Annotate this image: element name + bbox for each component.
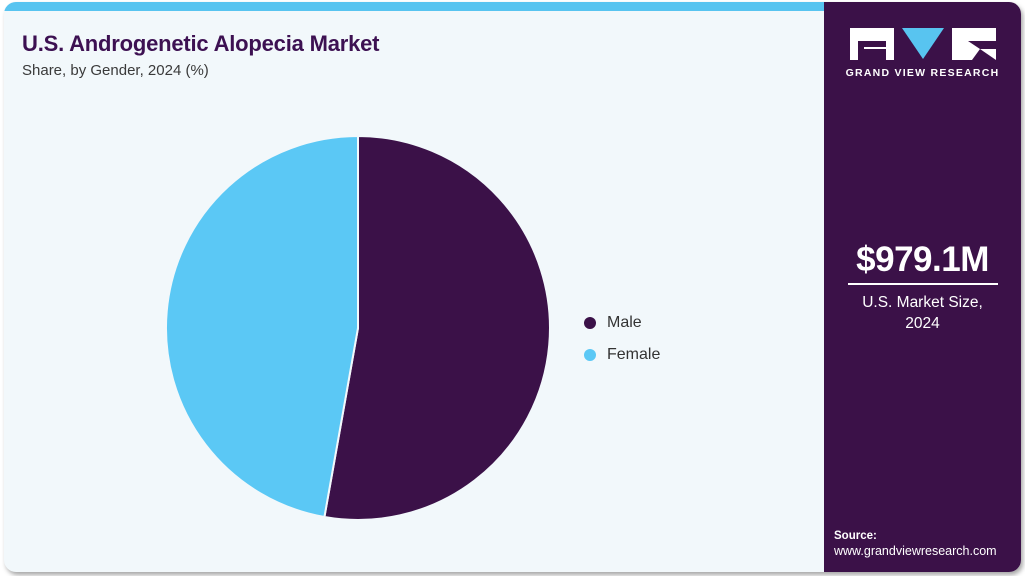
top-accent-bar	[4, 2, 824, 11]
chart-area: U.S. Androgenetic Alopecia Market Share,…	[4, 11, 824, 572]
legend-item-female[interactable]: Female	[584, 339, 660, 371]
legend-swatch-female	[584, 349, 596, 361]
pie-chart	[165, 135, 551, 521]
page-subtitle: Share, by Gender, 2024 (%)	[22, 62, 209, 79]
pie-slice-female[interactable]	[166, 136, 358, 517]
chart-card: U.S. Androgenetic Alopecia Market Share,…	[4, 2, 1021, 572]
brand-side-panel: GRAND VIEW RESEARCH $979.1M U.S. Market …	[824, 2, 1021, 572]
brand-wordmark: GRAND VIEW RESEARCH	[824, 67, 1021, 79]
legend-item-male[interactable]: Male	[584, 307, 660, 339]
chart-legend: Male Female	[584, 307, 660, 371]
brand-logo: GRAND VIEW RESEARCH	[824, 28, 1021, 79]
market-size-value: $979.1M	[824, 240, 1021, 280]
legend-label-male: Male	[607, 314, 642, 332]
source-url[interactable]: www.grandviewresearch.com	[834, 544, 1021, 558]
source-block: Source: www.grandviewresearch.com	[834, 530, 1021, 558]
page-title: U.S. Androgenetic Alopecia Market	[22, 31, 379, 57]
legend-swatch-male	[584, 317, 596, 329]
pie-chart-svg	[165, 135, 551, 521]
market-size-label: U.S. Market Size, 2024	[834, 292, 1011, 334]
market-size-divider	[848, 283, 998, 285]
source-label: Source:	[834, 530, 1021, 542]
legend-label-female: Female	[607, 346, 660, 364]
gvr-logo-icon	[850, 28, 996, 60]
